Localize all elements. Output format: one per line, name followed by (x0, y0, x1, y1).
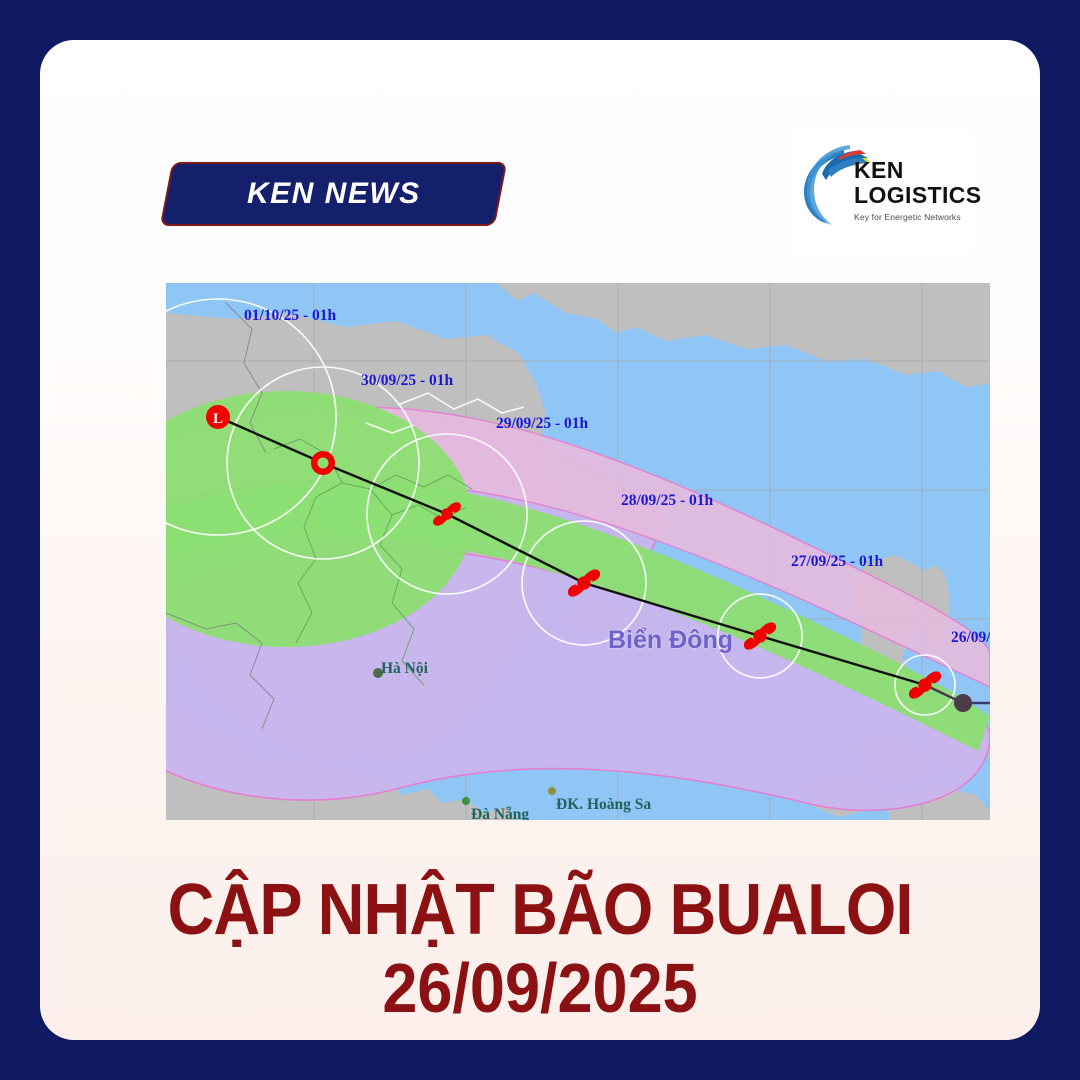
ken-logistics-logo: KEN LOGISTICS Key for Energetic Networks (792, 130, 974, 250)
headline-line-1: CẬP NHẬT BÃO BUALOI (90, 870, 990, 950)
svg-text:L: L (213, 411, 223, 427)
ken-news-label: KEN NEWS (247, 177, 421, 211)
logo-wordmark: KEN LOGISTICS (854, 158, 974, 208)
content-card: KEN NEWS KEN LOGISTICS Key for Energetic… (40, 40, 1040, 1040)
marker-low-pressure: L (206, 405, 230, 429)
headline-line-2: 26/09/2025 (90, 950, 990, 1026)
headline-block: CẬP NHẬT BÃO BUALOI 26/09/2025 (40, 870, 1040, 1026)
logo-tagline: Key for Energetic Networks (854, 212, 974, 222)
marker-past-position (954, 694, 972, 712)
marker-tropical-depression (311, 451, 335, 475)
logo-line-2: LOGISTICS (854, 183, 974, 208)
ken-news-banner: KEN NEWS (160, 162, 507, 226)
poster-frame: KEN NEWS KEN LOGISTICS Key for Energetic… (0, 0, 1080, 1080)
map-graphic: L (166, 283, 990, 820)
storm-track-map[interactable]: L (166, 283, 990, 820)
logo-line-1: KEN (854, 158, 974, 183)
